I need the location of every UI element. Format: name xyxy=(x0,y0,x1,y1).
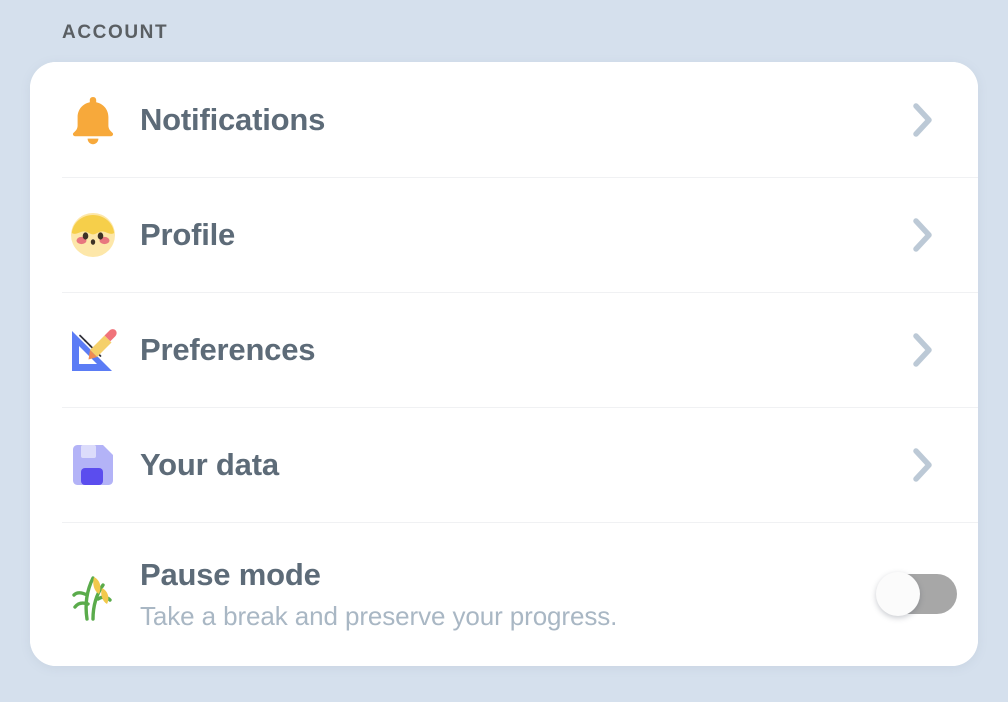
bell-icon xyxy=(62,89,124,151)
chevron-right-icon[interactable] xyxy=(912,218,934,252)
settings-row-trailing[interactable] xyxy=(868,103,978,137)
settings-screen: ACCOUNT Notifications xyxy=(0,0,1008,702)
settings-row-body: Notifications xyxy=(140,100,868,140)
settings-row-preferences[interactable]: Preferences xyxy=(30,292,978,407)
settings-row-title: Pause mode xyxy=(140,555,868,595)
floppy-disk-icon xyxy=(62,434,124,496)
settings-row-title: Your data xyxy=(140,445,868,485)
settings-row-title: Preferences xyxy=(140,330,868,370)
settings-row-your-data[interactable]: Your data xyxy=(30,407,978,522)
pause-mode-toggle[interactable] xyxy=(885,574,957,614)
settings-row-profile[interactable]: Profile xyxy=(30,177,978,292)
settings-row-trailing[interactable] xyxy=(868,574,978,614)
settings-row-body: Profile xyxy=(140,215,868,255)
settings-row-title: Notifications xyxy=(140,100,868,140)
settings-row-title: Profile xyxy=(140,215,868,255)
settings-row-pause-mode[interactable]: Pause mode Take a break and preserve you… xyxy=(30,522,978,666)
settings-row-notifications[interactable]: Notifications xyxy=(30,62,978,177)
settings-row-trailing[interactable] xyxy=(868,218,978,252)
settings-row-trailing[interactable] xyxy=(868,448,978,482)
settings-row-body: Pause mode Take a break and preserve you… xyxy=(140,555,868,634)
settings-row-trailing[interactable] xyxy=(868,333,978,367)
account-settings-card: Notifications xyxy=(30,62,978,666)
ruler-pencil-icon xyxy=(62,319,124,381)
settings-row-body: Preferences xyxy=(140,330,868,370)
chevron-right-icon[interactable] xyxy=(912,448,934,482)
rice-sheaf-icon xyxy=(62,563,124,625)
face-avatar-icon xyxy=(62,204,124,266)
chevron-right-icon[interactable] xyxy=(912,103,934,137)
settings-row-subtitle: Take a break and preserve your progress. xyxy=(140,598,868,634)
toggle-knob[interactable] xyxy=(876,572,920,616)
chevron-right-icon[interactable] xyxy=(912,333,934,367)
section-header-account: ACCOUNT xyxy=(62,20,168,46)
settings-row-body: Your data xyxy=(140,445,868,485)
